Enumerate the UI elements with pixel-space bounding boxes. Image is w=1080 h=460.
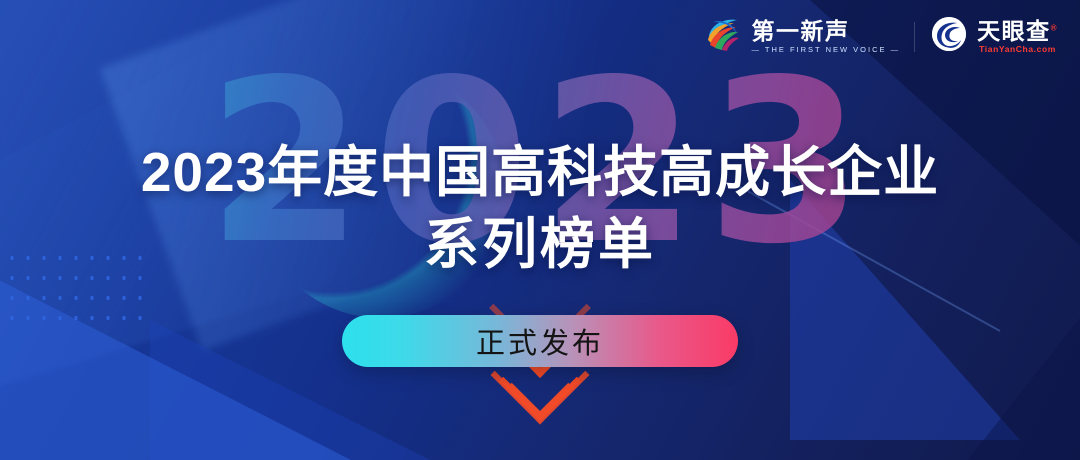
logo-en-tagline: — THE FIRST NEW VOICE — — [751, 45, 900, 54]
release-status-pill[interactable]: 正式发布 — [342, 315, 738, 367]
ribbon-logo-icon — [703, 14, 743, 59]
logo-cn-name: 天眼查® — [977, 19, 1058, 43]
logo-divider — [914, 22, 915, 52]
logo-text-group: 天眼查® TianYanCha.com — [977, 19, 1058, 54]
release-status-label: 正式发布 — [476, 320, 604, 362]
promo-banner: 2023 第一新声 — THE FIRST — [0, 0, 1080, 460]
logo-text-group: 第一新声 — THE FIRST NEW VOICE — — [751, 19, 900, 54]
logo-diyixinsheng[interactable]: 第一新声 — THE FIRST NEW VOICE — — [703, 14, 900, 59]
logo-en-domain: TianYanCha.com — [977, 44, 1058, 54]
logo-tianyancha[interactable]: 天眼查® TianYanCha.com — [929, 14, 1058, 59]
page-title: 2023年度中国高科技高成长企业 系列榜单 — [0, 136, 1080, 280]
headline-line-1: 2023年度中国高科技高成长企业 — [0, 136, 1080, 208]
logo-bar: 第一新声 — THE FIRST NEW VOICE — 天眼查® TianYa… — [703, 14, 1058, 59]
trademark-mark: ® — [1051, 23, 1058, 32]
eye-logo-icon — [929, 14, 969, 59]
headline-line-2: 系列榜单 — [0, 208, 1080, 280]
logo-cn-name: 第一新声 — [751, 19, 900, 43]
